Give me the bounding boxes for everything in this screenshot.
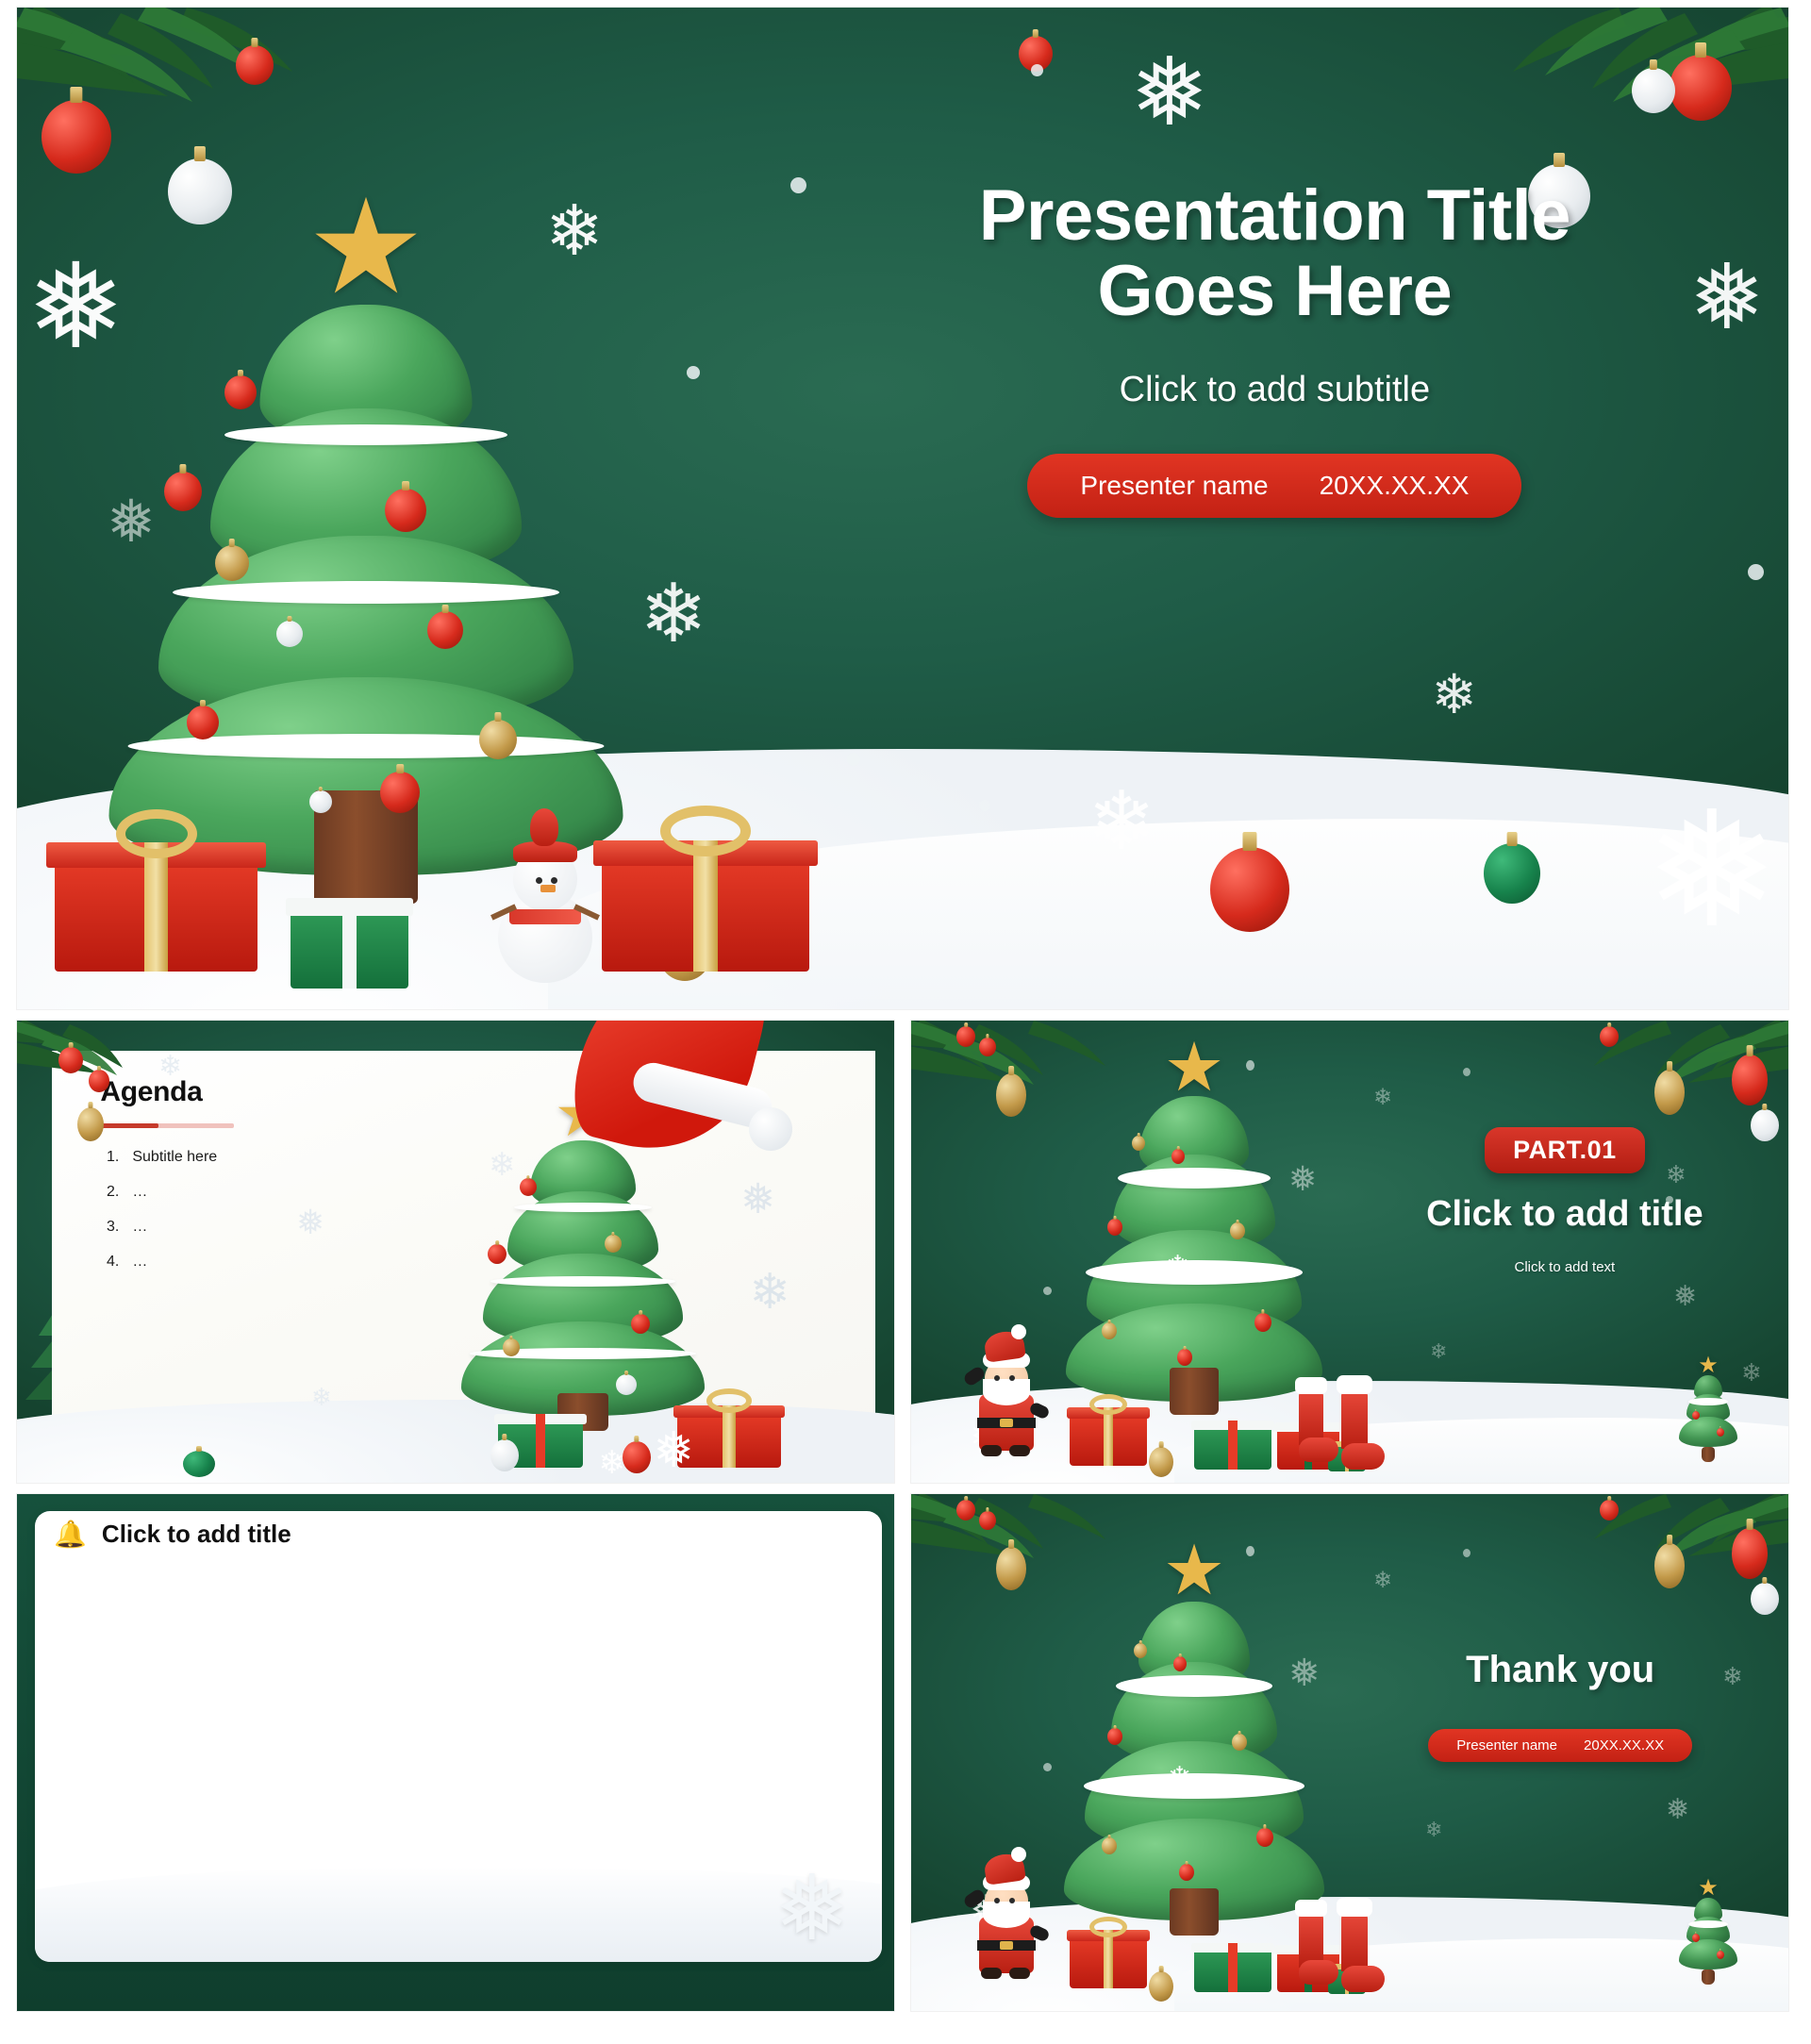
bauble-red-icon	[1210, 847, 1289, 932]
gift-bow	[116, 809, 197, 858]
tree-ornament-icon	[1177, 1349, 1192, 1366]
tree-ornament-icon	[1692, 1934, 1700, 1942]
gift-ribbon	[1104, 1407, 1113, 1466]
bauble-red-icon	[58, 1047, 83, 1073]
tree-ornament-icon	[1102, 1837, 1117, 1854]
snowflake-icon: ❄	[1741, 1360, 1762, 1385]
snowflake-icon: ❅	[740, 1179, 775, 1221]
deck-row-3: ❅ 🔔 Click to add title	[17, 1494, 1788, 2011]
snowflake-icon: ❄	[1168, 1764, 1191, 1792]
snowflake-icon: ❄	[1430, 1341, 1447, 1362]
list-item[interactable]: 4. …	[100, 1254, 234, 1271]
presenter-pill[interactable]: Presenter name 20XX.XX.XX	[1027, 454, 1521, 518]
snowflake-icon: ❄	[1373, 1570, 1392, 1592]
tree-ornament-icon	[631, 1314, 650, 1334]
snow-dot	[1043, 1763, 1052, 1771]
agenda-heading[interactable]: Agenda	[100, 1076, 234, 1108]
tree-star-icon: ★	[1698, 1877, 1719, 1900]
tree-garland	[224, 424, 507, 445]
tree-ornament-icon	[1717, 1428, 1724, 1437]
gift-ribbon	[1228, 1421, 1238, 1470]
subtitle-placeholder[interactable]: Click to add subtitle	[832, 370, 1718, 410]
snow-ground	[35, 1867, 882, 1961]
snowflake-icon: ❅	[653, 1426, 694, 1475]
bauble-red-icon	[1600, 1026, 1619, 1047]
santa-icon	[964, 1853, 1049, 1973]
deck-row-1: ❅ ❄ ❅ ❄ ❅ ❄ ❅ ❅ ❄ ★	[17, 8, 1788, 1009]
gift-ribbon	[1104, 1930, 1113, 1988]
list-item-label: …	[132, 1219, 147, 1236]
tree-ornament-icon	[1173, 1656, 1187, 1671]
tree-garland	[173, 581, 559, 604]
tree-ornament-icon	[1107, 1728, 1122, 1745]
bauble-silver-icon	[490, 1439, 519, 1471]
tree-ornament-icon	[427, 611, 463, 649]
bauble-gold-icon	[1149, 1447, 1173, 1477]
content-title-placeholder[interactable]: Click to add title	[102, 1520, 291, 1549]
stocking-icon	[1293, 1377, 1335, 1462]
tree-snow-band	[1688, 1920, 1728, 1928]
section-text-block: PART.01 Click to add title Click to add …	[1394, 1127, 1736, 1275]
tree-ornament-icon	[1179, 1864, 1194, 1881]
list-item-label: …	[132, 1254, 147, 1271]
tree-ornament-icon	[164, 472, 202, 511]
tree-ornament-icon	[1102, 1322, 1117, 1339]
tree-ornament-icon	[488, 1244, 507, 1264]
tree-garland	[490, 1276, 675, 1287]
gift-bow	[1089, 1394, 1126, 1415]
section-slide[interactable]: ❅ ❄ ❅ ❄ ❅ ❄ ❄ ★	[911, 1021, 1788, 1483]
bauble-red-icon	[956, 1026, 975, 1047]
gift-box-green	[1194, 1426, 1271, 1470]
title-line-1: Presentation Title	[832, 178, 1718, 255]
gift-ribbon	[144, 842, 169, 972]
content-card[interactable]: ❅	[35, 1511, 882, 1962]
tree-star-icon: ★	[1164, 1034, 1225, 1102]
mini-tree-icon: ★	[1675, 1358, 1741, 1462]
thankyou-slide[interactable]: ❅ ❄ ❅ ❅ ❄ ❄ ★	[911, 1494, 1788, 2011]
tree-ornament-icon	[520, 1178, 537, 1196]
bauble-red-icon	[1732, 1055, 1768, 1105]
title-slide[interactable]: ❅ ❄ ❅ ❄ ❅ ❄ ❅ ❅ ❄ ★	[17, 8, 1788, 1009]
tree-star-icon: ★	[1163, 1536, 1225, 1605]
snowflake-icon: ❅	[1645, 790, 1779, 951]
tree-ornament-icon	[1132, 1136, 1145, 1151]
tree-ornament-icon	[1230, 1222, 1245, 1239]
deck-row-2: ❄ ❅ ❄ ❅ ❅ ❄ ❄ Agenda 1. Subtitle here 2.…	[17, 1021, 1788, 1483]
snowflake-icon: ❄	[599, 1447, 626, 1479]
snowflake-icon: ❄	[311, 1385, 332, 1409]
thankyou-title[interactable]: Thank you	[1385, 1649, 1736, 1691]
tree-ornament-icon	[1171, 1149, 1185, 1164]
bauble-red-icon	[236, 45, 274, 85]
christmas-tree-icon: ★ ❄	[1053, 1539, 1336, 1936]
bauble-white-icon	[1632, 68, 1675, 113]
slide-deck: ❅ ❄ ❅ ❄ ❅ ❄ ❅ ❅ ❄ ★	[0, 0, 1811, 2044]
gift-bow	[660, 806, 752, 856]
tree-ornament-icon	[1134, 1643, 1147, 1658]
list-item-label: Subtitle here	[132, 1149, 217, 1166]
tree-ornament-icon	[1692, 1411, 1700, 1420]
tree-trunk	[1170, 1368, 1219, 1415]
agenda-list: 1. Subtitle here 2. … 3. … 4. …	[100, 1149, 234, 1271]
christmas-tree-icon: ★ ❄	[1053, 1038, 1336, 1415]
tree-ornament-icon	[479, 720, 517, 759]
snow-dot	[1463, 1549, 1470, 1557]
content-slide[interactable]: ❅ 🔔 Click to add title	[17, 1494, 894, 2011]
gift-bow	[706, 1388, 752, 1413]
content-header: 🔔 Click to add title	[54, 1520, 291, 1549]
bauble-red-icon	[1670, 55, 1732, 121]
bauble-red-icon	[42, 100, 111, 174]
gift-bow	[1089, 1917, 1126, 1937]
snow-dot	[1031, 64, 1043, 76]
list-item-label: …	[132, 1184, 147, 1201]
section-title-placeholder[interactable]: Click to add title	[1394, 1194, 1736, 1235]
gift-box-red	[55, 858, 258, 972]
tree-snow-band	[1118, 1168, 1271, 1188]
snowflake-icon: ❅	[296, 1205, 324, 1239]
gift-box-red	[602, 856, 809, 972]
tree-snow-band	[1084, 1773, 1304, 1799]
gift-box-green	[291, 909, 408, 989]
gift-box-red	[1070, 1937, 1147, 1988]
bauble-green-icon	[1484, 843, 1540, 904]
santa-icon	[964, 1330, 1049, 1451]
gift-ribbon	[693, 840, 718, 972]
agenda-divider	[100, 1123, 234, 1128]
bauble-gold-icon	[1149, 1971, 1173, 2002]
snowflake-icon: ❅	[1666, 1796, 1689, 1824]
snow-dot	[1463, 1068, 1470, 1076]
tree-ornament-icon	[503, 1338, 520, 1356]
tree-star-icon: ★	[1698, 1354, 1719, 1377]
thankyou-text-block: Thank you Presenter name 20XX.XX.XX	[1385, 1649, 1736, 1762]
list-item-number: 4.	[100, 1254, 119, 1271]
tree-ornament-icon	[1107, 1219, 1122, 1236]
bauble-red-icon	[979, 1511, 996, 1530]
snowflake-icon: ❄	[1373, 1087, 1392, 1109]
gift-ribbon	[536, 1414, 546, 1468]
page-title[interactable]: Presentation Title Goes Here	[832, 178, 1718, 330]
snowflake-icon: ❄	[1088, 781, 1155, 862]
tree-ornament-icon	[385, 489, 426, 532]
santa-hat-pom	[749, 1107, 792, 1151]
tree-ornament-icon	[1256, 1828, 1273, 1847]
tree-snow-band	[1086, 1260, 1303, 1285]
title-line-2: Goes Here	[832, 254, 1718, 330]
bauble-red-icon	[1732, 1528, 1768, 1579]
snow-dot	[979, 800, 990, 811]
tree-snow-band	[1116, 1675, 1272, 1697]
snowflake-icon: ❄	[1166, 1253, 1189, 1281]
tree-ornament-icon	[309, 790, 332, 813]
snowman-icon	[489, 804, 602, 983]
stocking-icon	[1334, 1375, 1381, 1470]
tree-snow-band	[1688, 1398, 1728, 1405]
snowflake-icon: ❄	[749, 1268, 790, 1317]
presenter-name-label: Presenter name	[1456, 1737, 1557, 1753]
list-item-number: 3.	[100, 1219, 119, 1236]
bauble-red-icon	[1600, 1500, 1619, 1521]
tree-ornament-icon	[605, 1235, 622, 1253]
tree-ornament-icon	[1254, 1313, 1271, 1332]
section-body-placeholder[interactable]: Click to add text	[1394, 1259, 1736, 1275]
bauble-gold-icon	[1654, 1543, 1685, 1588]
gift-box-red	[1070, 1415, 1147, 1466]
tree-trunk	[1702, 1447, 1715, 1462]
snow-dot	[790, 177, 806, 193]
presentation-date-label: 20XX.XX.XX	[1320, 471, 1470, 501]
presenter-name-label: Presenter name	[1080, 471, 1268, 501]
bauble-red-icon	[623, 1441, 651, 1473]
snowflake-icon: ❅	[774, 1864, 850, 1954]
list-item[interactable]: 1. Subtitle here	[100, 1149, 234, 1166]
bauble-gold-icon	[77, 1107, 104, 1141]
agenda-content: Agenda 1. Subtitle here 2. … 3. …	[100, 1076, 234, 1288]
snowflake-icon: ❅	[1673, 1283, 1697, 1311]
tree-trunk	[1170, 1888, 1219, 1936]
tree-ornament-icon	[1717, 1951, 1724, 1959]
presenter-pill[interactable]: Presenter name 20XX.XX.XX	[1428, 1729, 1692, 1762]
title-text-block: Presentation Title Goes Here Click to ad…	[832, 178, 1718, 518]
gift-ribbon	[342, 898, 357, 989]
bauble-red-icon	[956, 1500, 975, 1521]
agenda-slide[interactable]: ❄ ❅ ❄ ❅ ❅ ❄ ❄ Agenda 1. Subtitle here 2.…	[17, 1021, 894, 1483]
list-item[interactable]: 3. …	[100, 1219, 234, 1236]
snow-dot	[687, 366, 700, 379]
list-item[interactable]: 2. …	[100, 1184, 234, 1201]
stocking-icon	[1293, 1900, 1335, 1985]
snow-dot	[847, 753, 860, 766]
tree-ornament-icon	[215, 545, 249, 581]
bauble-white-icon	[1751, 1109, 1779, 1141]
list-item-number: 1.	[100, 1149, 119, 1166]
tree-ornament-icon	[616, 1374, 637, 1395]
tree-ornament-icon	[1232, 1734, 1247, 1751]
tree-tier	[1679, 1939, 1737, 1969]
tree-trunk	[1702, 1969, 1715, 1985]
christmas-tree-icon: ★	[74, 206, 658, 904]
tree-ornament-icon	[187, 706, 219, 739]
tree-ornament-icon	[276, 621, 303, 647]
list-item-number: 2.	[100, 1184, 119, 1201]
snowflake-icon: ❄	[1425, 1820, 1442, 1840]
bauble-gold-icon	[996, 1073, 1026, 1117]
tree-garland	[514, 1203, 652, 1212]
stocking-icon	[1334, 1898, 1381, 1992]
snowflake-icon: ❅	[1130, 45, 1209, 140]
gift-box-green	[1194, 1949, 1271, 1992]
tree-tier	[1679, 1417, 1737, 1447]
tree-ornament-icon	[380, 772, 420, 813]
bauble-gold-icon	[996, 1547, 1026, 1590]
bauble-gold-icon	[1654, 1070, 1685, 1115]
bells-icon: 🔔	[54, 1521, 87, 1548]
gift-ribbon	[723, 1405, 735, 1468]
gift-ribbon	[1228, 1943, 1238, 1992]
snow-dot	[1043, 1287, 1052, 1295]
bauble-red-icon	[89, 1070, 109, 1092]
part-badge[interactable]: PART.01	[1485, 1127, 1645, 1173]
mini-tree-icon: ★	[1675, 1881, 1741, 1985]
snow-dot	[1748, 564, 1764, 580]
tree-ornament-icon	[224, 375, 257, 409]
bauble-green-icon	[183, 1451, 215, 1477]
presentation-date-label: 20XX.XX.XX	[1584, 1737, 1664, 1753]
tree-star-icon: ★	[307, 181, 425, 313]
bauble-red-icon	[979, 1038, 996, 1056]
bauble-white-icon	[1751, 1583, 1779, 1615]
snowflake-icon: ❄	[1431, 668, 1477, 723]
